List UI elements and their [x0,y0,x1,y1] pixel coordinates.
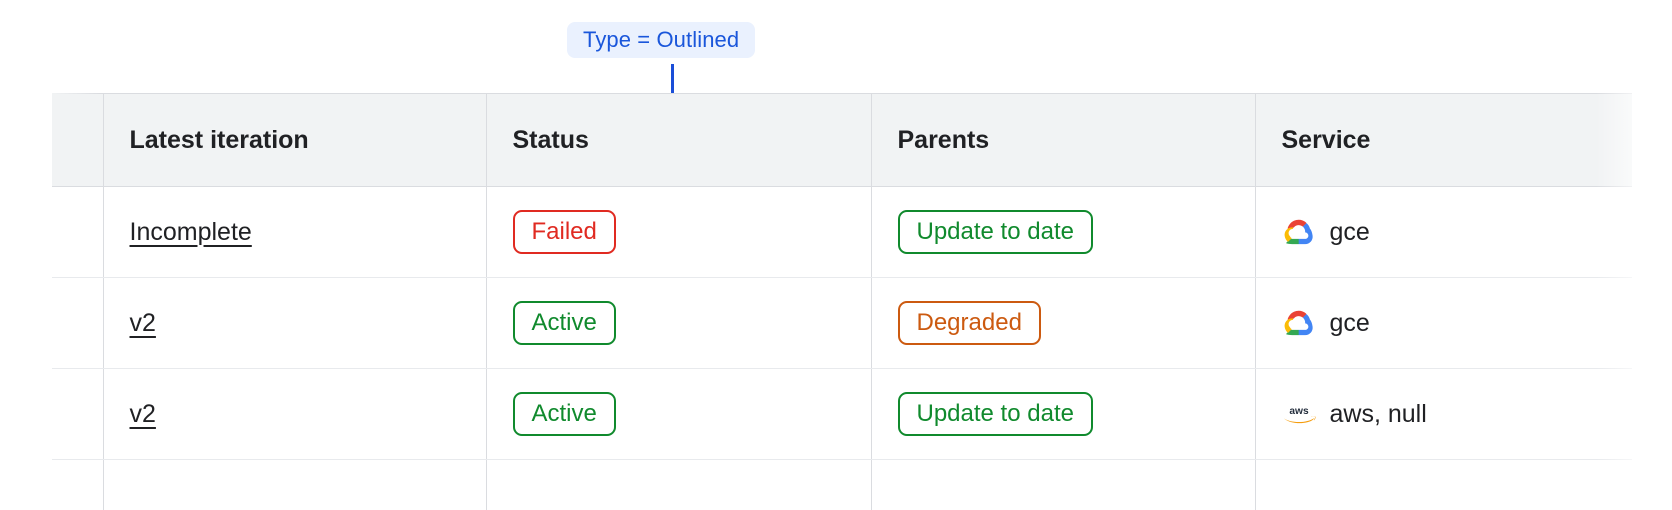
column-header-latest-iteration[interactable]: Latest iteration [103,94,486,187]
row-spacer-cell [52,278,103,369]
cell-parents: Update to date [871,187,1255,278]
status-badge: Active [513,301,616,345]
cell-parents [871,460,1255,510]
status-badge: Failed [513,210,616,254]
data-table: Latest iteration Status Parents Service … [52,93,1632,510]
table-row[interactable]: v2 Active Update to date aws [52,369,1632,460]
google-cloud-icon [1282,306,1316,340]
cell-service [1255,460,1632,510]
cell-status: Active [486,278,871,369]
table-body: Incomplete Failed Update to date [52,187,1632,510]
row-spacer-cell [52,369,103,460]
cell-parents: Degraded [871,278,1255,369]
service-value: gce [1282,215,1633,249]
column-header-parents[interactable]: Parents [871,94,1255,187]
table-header-row: Latest iteration Status Parents Service [52,94,1632,187]
table-row[interactable]: v2 Active Degraded [52,278,1632,369]
table-container: Latest iteration Status Parents Service … [0,0,1672,510]
cell-status [486,460,871,510]
table-row[interactable]: Incomplete Failed Update to date [52,187,1632,278]
status-badge: Active [513,392,616,436]
table-row[interactable] [52,460,1632,510]
service-label: gce [1330,309,1370,338]
latest-iteration-link[interactable]: v2 [130,400,156,428]
column-header-spacer [52,94,103,187]
service-value: gce [1282,306,1633,340]
cell-latest-iteration: v2 [103,278,486,369]
aws-icon: aws [1282,397,1316,431]
cell-service: gce [1255,278,1632,369]
svg-text:aws: aws [1289,406,1309,417]
cell-service: gce [1255,187,1632,278]
parents-badge: Update to date [898,392,1093,436]
row-spacer-cell [52,187,103,278]
parents-badge: Update to date [898,210,1093,254]
cell-latest-iteration: Incomplete [103,187,486,278]
cell-latest-iteration: v2 [103,369,486,460]
cell-status: Failed [486,187,871,278]
service-value: aws aws, null [1282,397,1633,431]
cell-status: Active [486,369,871,460]
screenshot-root: Type = Outlined Latest iteration Status … [0,0,1672,510]
service-label: gce [1330,218,1370,247]
service-label: aws, null [1330,400,1427,429]
cell-service: aws aws, null [1255,369,1632,460]
google-cloud-icon [1282,215,1316,249]
latest-iteration-link[interactable]: v2 [130,309,156,337]
table-header: Latest iteration Status Parents Service [52,94,1632,187]
row-spacer-cell [52,460,103,510]
column-header-status[interactable]: Status [486,94,871,187]
cell-latest-iteration [103,460,486,510]
column-header-service[interactable]: Service [1255,94,1632,187]
cell-parents: Update to date [871,369,1255,460]
parents-badge: Degraded [898,301,1041,345]
latest-iteration-link[interactable]: Incomplete [130,218,252,246]
